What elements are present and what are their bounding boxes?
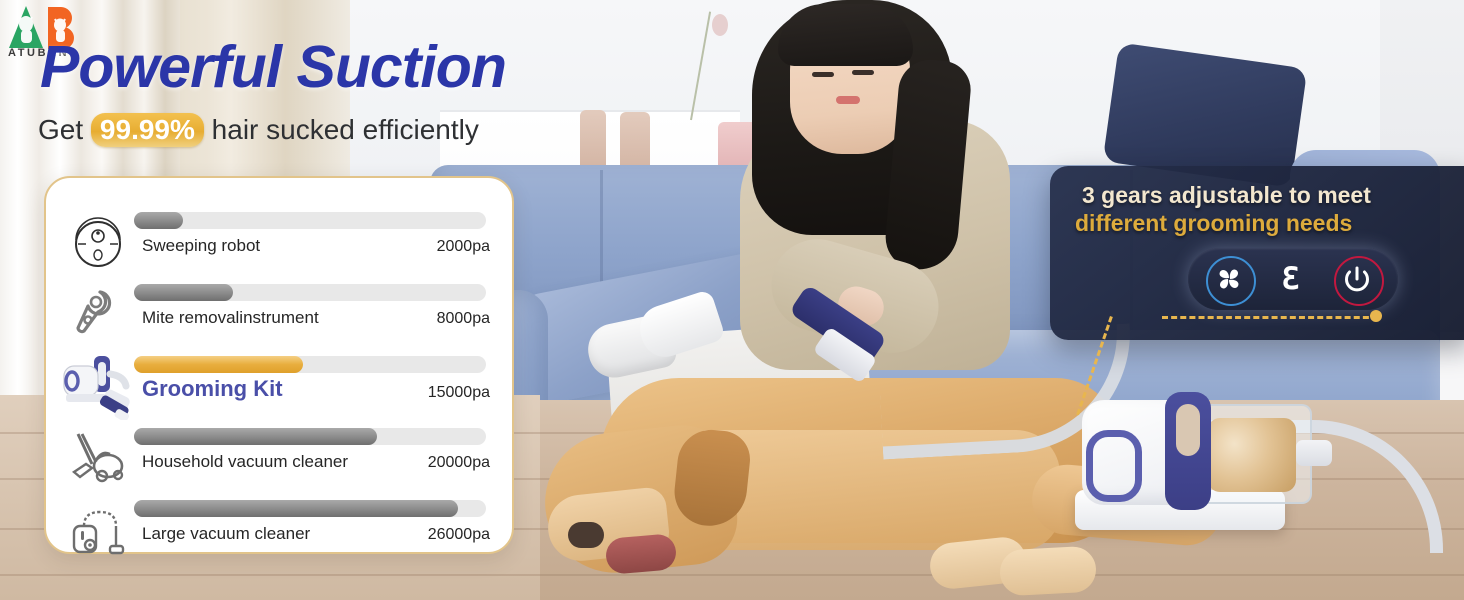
suction-bar-fill (134, 500, 458, 517)
comparison-row: Household vacuum cleaner 20000pa (46, 422, 512, 494)
product-label: Sweeping robot (142, 236, 260, 256)
suction-bar-track (134, 500, 486, 517)
woman-eye-right (852, 70, 874, 75)
comparison-row-grooming-kit: Grooming Kit 15000pa (46, 350, 512, 422)
grooming-kit-product-icon (60, 346, 138, 420)
woman-eye-left (812, 72, 834, 77)
comparison-row: Sweeping robot 2000pa (46, 206, 512, 278)
collected-pet-hair (1208, 418, 1296, 492)
product-front-ring (1086, 430, 1142, 502)
large-vacuum-cleaner-icon (66, 498, 130, 562)
callout-connector-horizontal (1162, 316, 1378, 319)
product-label: Mite removalinstrument (142, 308, 319, 328)
comparison-row: Mite removalinstrument 8000pa (46, 278, 512, 350)
product-hose-port (1296, 440, 1332, 466)
callout-line-1: 3 gears adjustable to meet (1082, 182, 1371, 209)
product-label: Household vacuum cleaner (142, 452, 348, 472)
household-vacuum-cleaner-icon (66, 426, 130, 490)
subtitle: Get 99.99% hair sucked efficiently (38, 113, 479, 147)
gear-level-display: 3 (1276, 262, 1300, 298)
product-handle-gap (1176, 404, 1200, 456)
suction-value: 2000pa (437, 238, 490, 256)
suction-bar-track (134, 284, 486, 301)
suction-bar-fill (134, 212, 183, 229)
woman-lips (836, 96, 860, 104)
suction-bar-fill (134, 284, 233, 301)
subtitle-suffix: hair sucked efficiently (204, 114, 479, 145)
floor-plank-4 (0, 574, 1464, 576)
woman-hair-bangs (778, 4, 913, 66)
callout-connector-dot (1370, 310, 1382, 322)
suction-bar-track (134, 428, 486, 445)
subtitle-prefix: Get (38, 114, 91, 145)
comparison-row: Large vacuum cleaner 26000pa (46, 494, 512, 566)
suction-bar-fill (134, 356, 303, 373)
efficiency-badge: 99.99% (91, 113, 204, 147)
suction-value: 26000pa (428, 526, 490, 544)
decor-bud (712, 14, 728, 36)
suction-comparison-card: Sweeping robot 2000pa Mite removalinstru… (44, 176, 514, 554)
gears-callout: 3 gears adjustable to meet different gro… (1050, 166, 1464, 340)
suction-bar-track (134, 212, 486, 229)
suction-bar-track (134, 356, 486, 373)
suction-value: 20000pa (428, 454, 490, 472)
page-title: Powerful Suction (40, 33, 506, 101)
product-label: Large vacuum cleaner (142, 524, 310, 544)
suction-value: 15000pa (428, 384, 490, 402)
suction-bar-fill (134, 428, 377, 445)
control-panel: 3 (1188, 248, 1398, 310)
power-button[interactable] (1334, 256, 1384, 306)
sweeping-robot-icon (66, 210, 130, 274)
fan-speed-button[interactable] (1206, 256, 1256, 306)
dog-nose (568, 522, 604, 548)
product-label: Grooming Kit (142, 376, 283, 402)
suction-value: 8000pa (437, 310, 490, 328)
marketing-banner: ATUBAN Powerful Suction Get 99.99% hair … (0, 0, 1464, 600)
mite-removal-instrument-icon (66, 282, 130, 346)
callout-line-2: different grooming needs (1075, 210, 1352, 237)
dog-paw-2 (999, 546, 1097, 597)
